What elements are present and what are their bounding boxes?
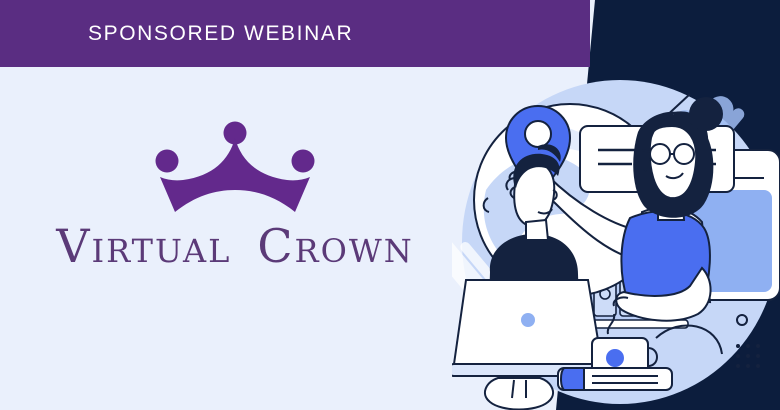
sponsored-label: SPONSORED WEBINAR: [88, 22, 353, 46]
sponsored-header-bar: SPONSORED WEBINAR: [0, 0, 590, 67]
book-icon: [558, 368, 672, 390]
brand-logo: VirtualCrown: [0, 120, 470, 269]
brand-word-crown: Crown: [257, 223, 413, 269]
webinar-presenters-illustration: [452, 72, 780, 410]
sponsored-webinar-banner: SPONSORED WEBINAR VirtualCrown: [0, 0, 780, 410]
brand-word-virtual: Virtual: [56, 223, 231, 269]
crown-icon: [0, 120, 470, 217]
brand-wordmark: VirtualCrown: [0, 223, 470, 269]
